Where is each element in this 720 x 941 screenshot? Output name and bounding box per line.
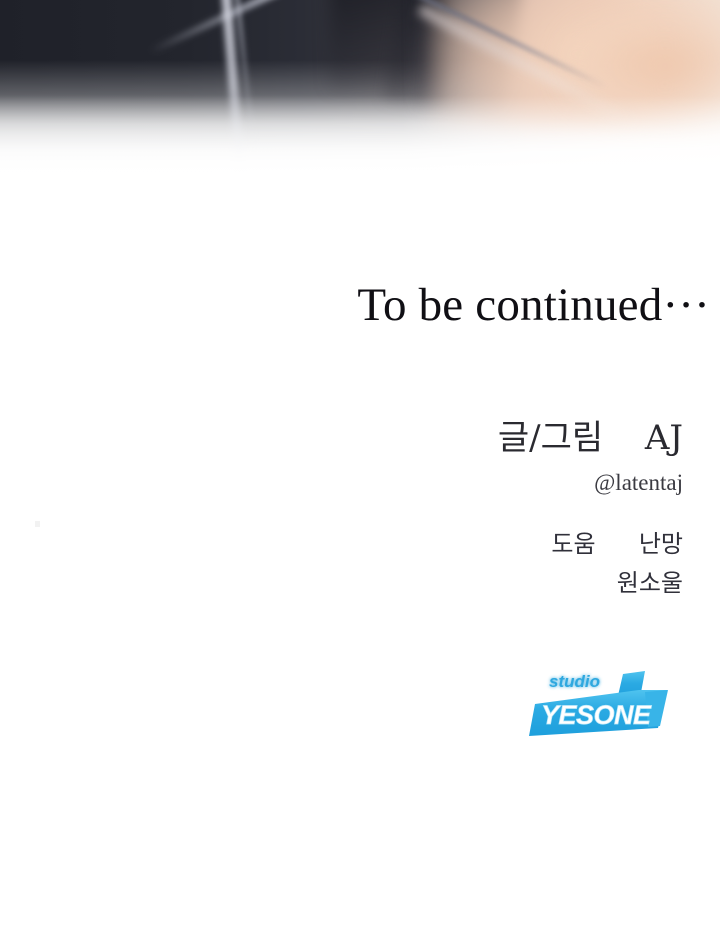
artwork-white-fade bbox=[0, 96, 720, 200]
credit-author-role: 글/그림 bbox=[498, 418, 603, 458]
panel-artwork bbox=[0, 0, 720, 200]
credit-author-handle: @latentaj bbox=[0, 469, 683, 497]
credit-help-line: 도움 난망 bbox=[0, 529, 683, 559]
studio-yesone-logo-graphic: studio YESONE bbox=[527, 668, 673, 738]
credit-author-line: 글/그림 AJ bbox=[0, 418, 683, 458]
credit-help-name-1: 난망 bbox=[639, 530, 683, 558]
logo-brand-word: YESONE bbox=[541, 700, 652, 730]
credit-help-role: 도움 bbox=[551, 530, 595, 558]
to-be-continued-text: To be continued··· bbox=[0, 282, 710, 329]
webtoon-ending-panel: To be continued··· 글/그림 AJ @latentaj 도움 … bbox=[0, 0, 720, 941]
credits-block: 글/그림 AJ @latentaj 도움 난망 원소울 bbox=[0, 418, 683, 598]
credit-author-name: AJ bbox=[645, 418, 683, 458]
credit-help-name-2: 원소울 bbox=[0, 568, 683, 598]
studio-yesone-logo: studio YESONE bbox=[527, 668, 673, 738]
logo-studio-word: studio bbox=[549, 672, 600, 691]
